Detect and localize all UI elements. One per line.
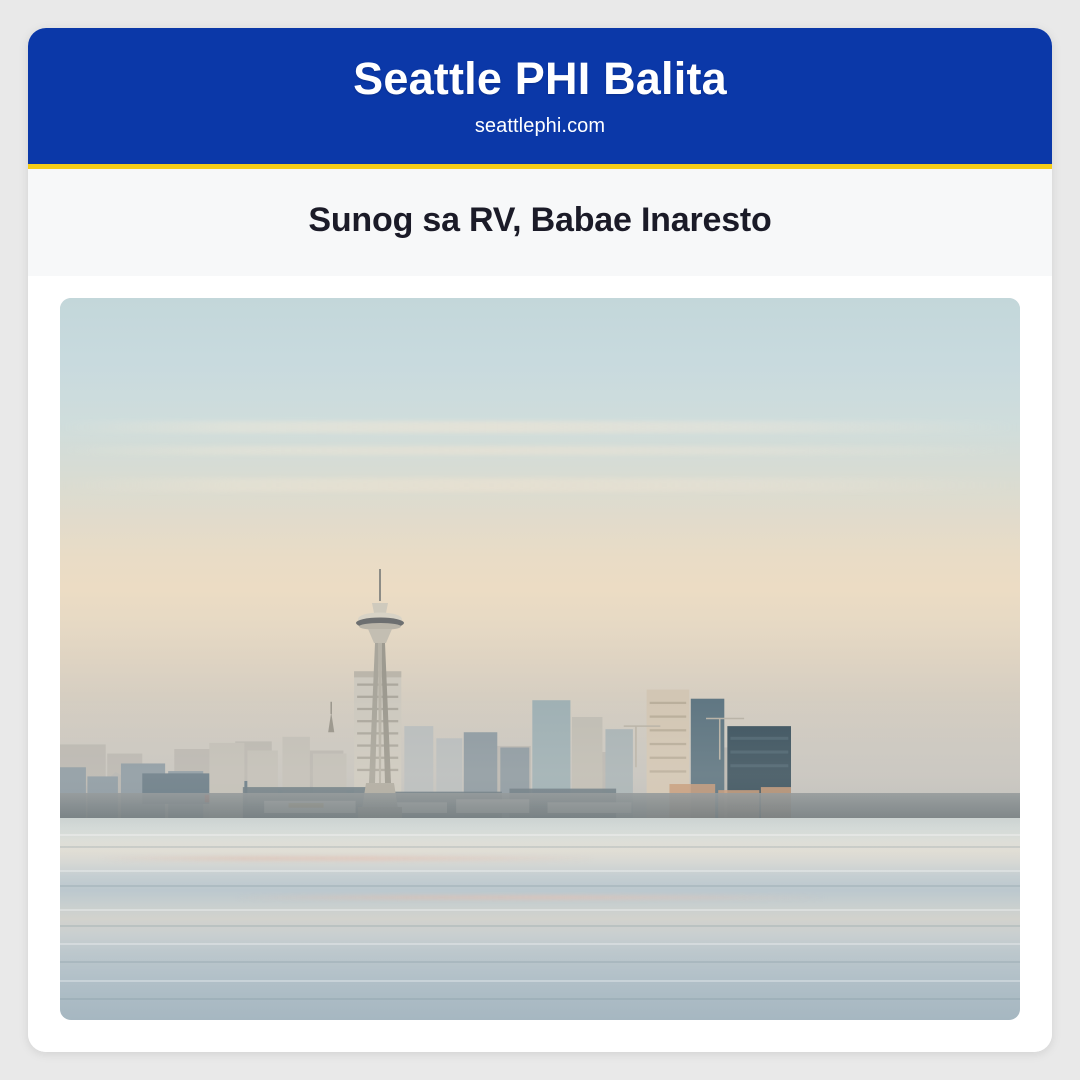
news-card: Seattle PHI Balita seattlephi.com Sunog … [28, 28, 1052, 1052]
water-reflection [98, 856, 597, 861]
cloud-band-icon [60, 478, 1020, 492]
site-header: Seattle PHI Balita seattlephi.com [28, 28, 1052, 169]
water-ripple [60, 834, 1020, 836]
water-ripple [60, 909, 1020, 911]
water-ripple [60, 925, 1020, 927]
water-ripple [60, 980, 1020, 982]
water-glare [60, 818, 1020, 887]
water-ripple [60, 998, 1020, 1000]
site-url: seattlephi.com [28, 115, 1052, 138]
site-title: Seattle PHI Balita [28, 54, 1052, 104]
water-ripple [60, 961, 1020, 963]
water-ripple [60, 846, 1020, 848]
water-ripple [60, 885, 1020, 887]
space-needle-icon [334, 569, 426, 821]
water-surface [60, 818, 1020, 1020]
cloud-band-icon [60, 421, 1020, 433]
water-reflection [233, 895, 828, 900]
water-ripple [60, 870, 1020, 872]
article-media-area [28, 276, 1052, 1052]
cloud-band-icon [60, 446, 1020, 455]
water-ripple [60, 943, 1020, 945]
article-headline: Sunog sa RV, Babae Inaresto [68, 199, 1012, 242]
seattle-skyline-photo [60, 298, 1020, 1020]
headline-band: Sunog sa RV, Babae Inaresto [28, 169, 1052, 276]
